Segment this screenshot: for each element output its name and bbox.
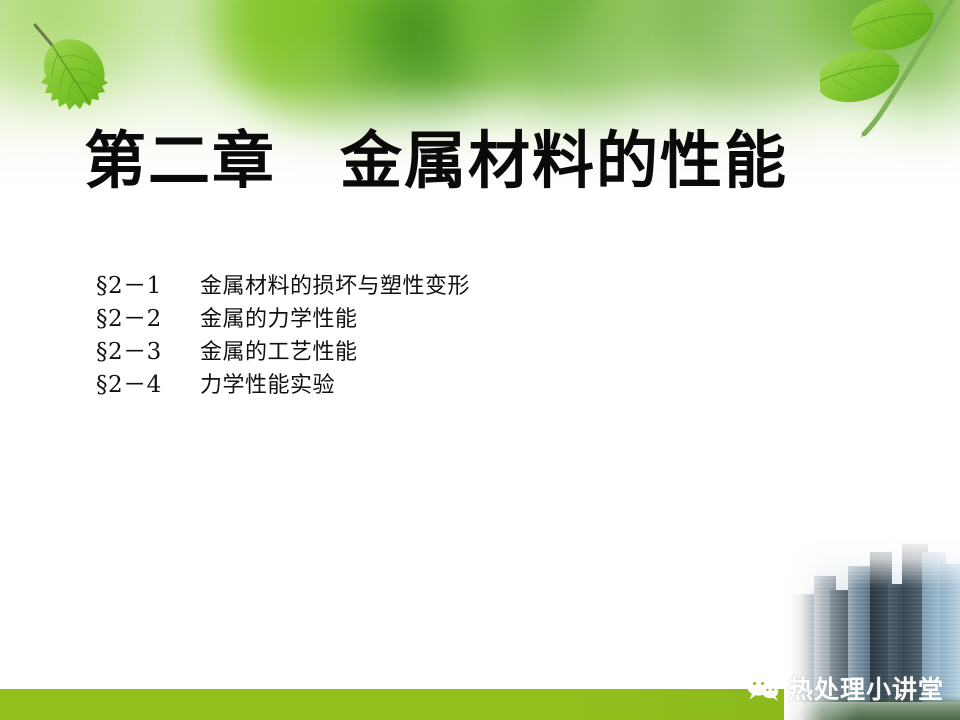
watermark-text: 热处理小讲堂 [788, 670, 944, 706]
section-title: 金属的力学性能 [200, 301, 358, 333]
leaf-icon [16, 14, 128, 122]
list-item: §2－4 力学性能实验 [96, 365, 716, 398]
section-title: 金属的工艺性能 [200, 334, 358, 366]
list-item: §2－2 金属的力学性能 [96, 299, 716, 332]
list-item: §2－3 金属的工艺性能 [96, 332, 716, 365]
page-title: 第二章 金属材料的性能 [84, 128, 788, 195]
section-number: §2－1 [96, 266, 200, 300]
list-item: §2－1 金属材料的损坏与塑性变形 [96, 266, 716, 299]
section-number: §2－2 [96, 299, 200, 333]
section-number: §2－4 [96, 365, 200, 399]
wechat-icon [745, 673, 779, 703]
section-title: 力学性能实验 [200, 367, 335, 399]
slide-canvas: 第二章 金属材料的性能 §2－1 金属材料的损坏与塑性变形 §2－2 金属的力学… [0, 0, 960, 720]
branch-leaves-icon [820, 0, 960, 146]
bottom-green-bar [0, 689, 800, 720]
section-title: 金属材料的损坏与塑性变形 [200, 268, 470, 300]
watermark: 热处理小讲堂 [745, 670, 944, 706]
section-number: §2－3 [96, 332, 200, 366]
section-list: §2－1 金属材料的损坏与塑性变形 §2－2 金属的力学性能 §2－3 金属的工… [96, 266, 716, 398]
